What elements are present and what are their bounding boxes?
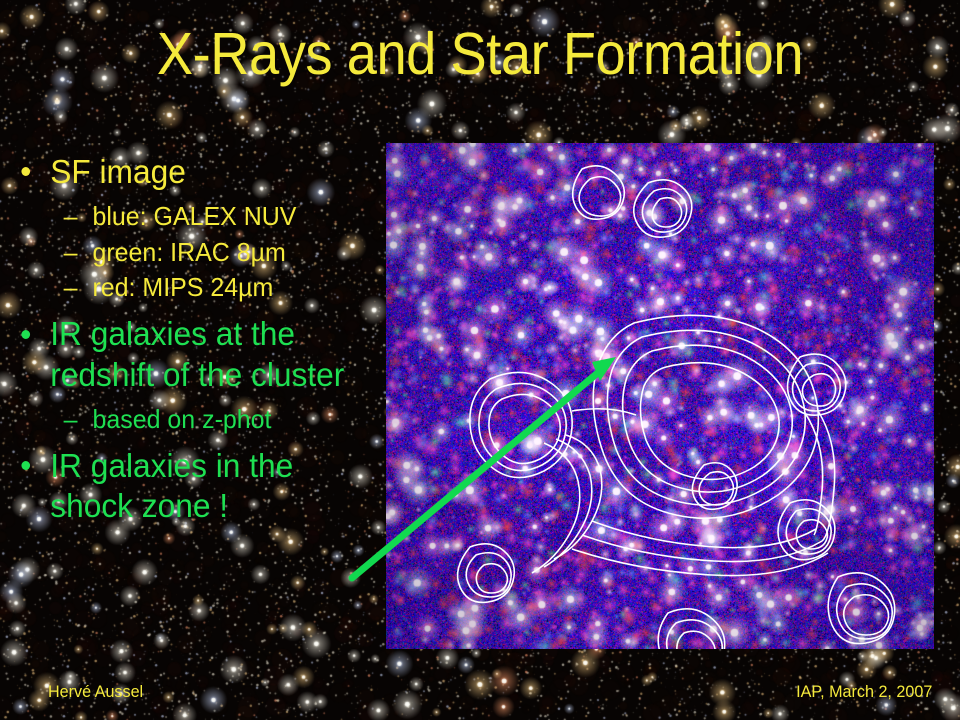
subbullet-blue-galex: – blue: GALEX NUV [8,199,365,234]
subbullet-label: red: MIPS 24µm [92,272,273,302]
en-dash-icon: – [64,270,78,305]
xray-contour-overlay [386,143,934,649]
bullet-dot-icon [21,167,30,176]
page-title: X-Rays and Star Formation [38,24,921,86]
bullet-sf-image: SF image [8,152,365,192]
spacer [8,305,380,314]
bullet-label: SF image [50,153,186,190]
multiwavelength-composite-image [386,143,934,649]
subbullet-green-irac: – green: IRAC 8µm [8,235,365,270]
bullet-ir-galaxies-redshift: IR galaxies at the redshift of the clust… [8,314,365,395]
en-dash-icon: – [64,235,78,270]
subbullet-label: green: IRAC 8µm [92,237,285,267]
bullet-dot-icon [21,330,30,339]
subbullet-based-on-zphot: – based on z-phot [8,402,365,437]
subbullet-label: based on z-phot [92,404,271,434]
bullet-dot-icon [21,461,30,470]
en-dash-icon: – [64,402,78,437]
subbullet-label: blue: GALEX NUV [92,201,296,231]
spacer [8,437,380,446]
footer-author: Hervé Aussel [48,682,143,702]
footer-venue-date: IAP, March 2, 2007 [796,682,932,702]
bullet-list: SF image – blue: GALEX NUV – green: IRAC… [8,152,380,529]
bullet-label: IR galaxies at the redshift of the clust… [50,315,344,392]
bullet-ir-galaxies-shock-zone: IR galaxies in the shock zone ! [8,446,365,527]
bullet-label: IR galaxies in the shock zone ! [50,447,293,524]
slide: X-Rays and Star Formation SF image – blu… [0,0,960,720]
subbullet-red-mips: – red: MIPS 24µm [8,270,365,305]
en-dash-icon: – [64,199,78,234]
